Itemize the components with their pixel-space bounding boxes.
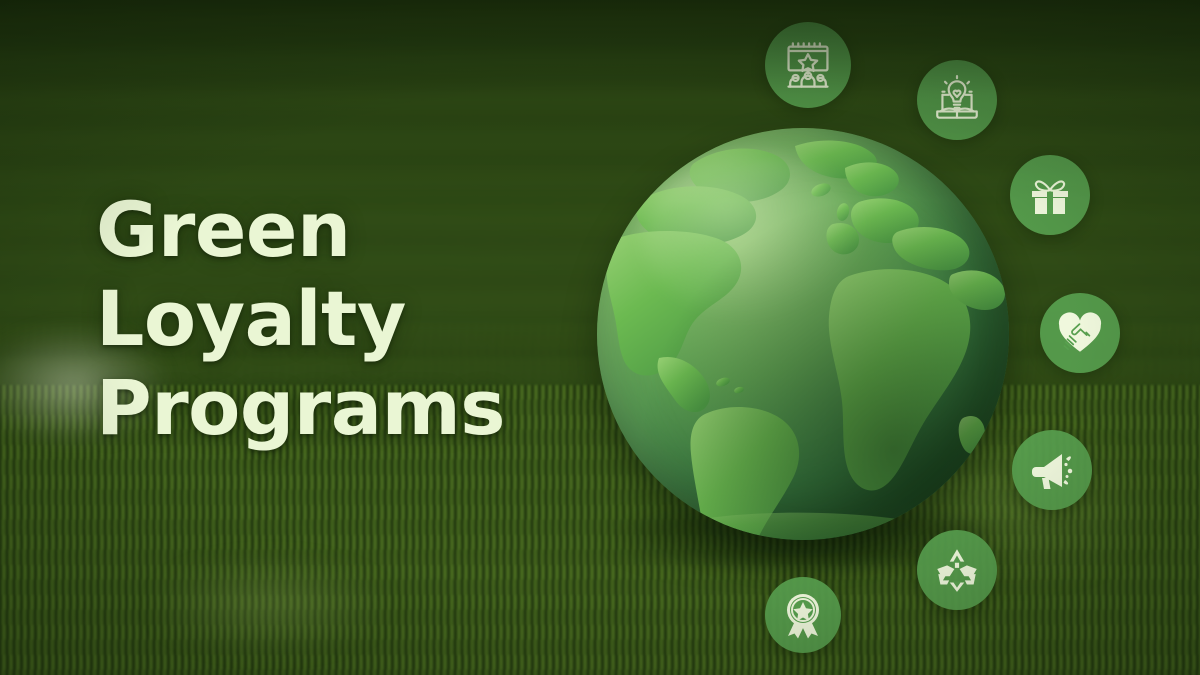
gift-box-icon xyxy=(1025,170,1075,220)
light-bloom-bottom xyxy=(150,560,390,650)
presentation-star-people-icon xyxy=(781,38,835,92)
page-title: Green Loyalty Programs xyxy=(96,186,566,453)
poster-canvas: Green Loyalty Programs xyxy=(0,0,1200,675)
title-line-2: Loyalty xyxy=(96,275,566,364)
globe-illustration xyxy=(597,128,1009,540)
megaphone-icon xyxy=(1027,445,1077,495)
badge-promotion[interactable] xyxy=(1012,430,1092,510)
recycle-icon xyxy=(931,544,983,596)
lightbulb-book-icon xyxy=(931,74,983,126)
title-line-1: Green xyxy=(96,186,566,275)
badge-eco-learning[interactable] xyxy=(917,60,997,140)
badge-community-star[interactable] xyxy=(765,22,851,108)
award-ribbon-star-icon xyxy=(778,590,828,640)
badge-partnership[interactable] xyxy=(1040,293,1120,373)
title-line-3: Programs xyxy=(96,364,566,453)
badge-award[interactable] xyxy=(765,577,841,653)
handshake-heart-icon xyxy=(1054,307,1106,359)
badge-gift-reward[interactable] xyxy=(1010,155,1090,235)
badge-recycling[interactable] xyxy=(917,530,997,610)
globe-landmasses xyxy=(597,128,1009,540)
